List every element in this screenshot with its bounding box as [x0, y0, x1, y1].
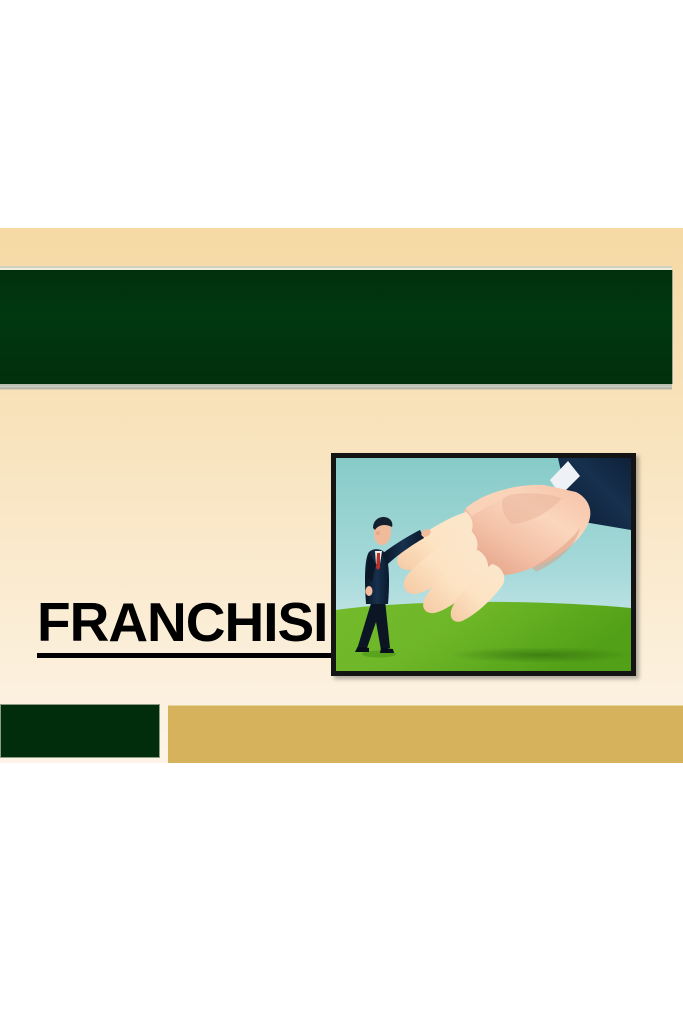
bottom-bar-green [0, 704, 160, 758]
banner-highlight-bottom-inner [0, 386, 672, 390]
presentation-slide: FRANCHISING [0, 228, 683, 763]
banner-body [0, 270, 673, 384]
handshake-illustration-svg [336, 458, 631, 671]
hand-ground-shadow [449, 647, 631, 663]
bottom-bar-gold [168, 705, 683, 763]
businessman-ear [376, 531, 380, 535]
illustration-canvas [336, 458, 631, 671]
top-decorative-banner [0, 266, 672, 390]
businessman-hand-lower [366, 586, 373, 596]
slide-illustration [331, 453, 636, 676]
